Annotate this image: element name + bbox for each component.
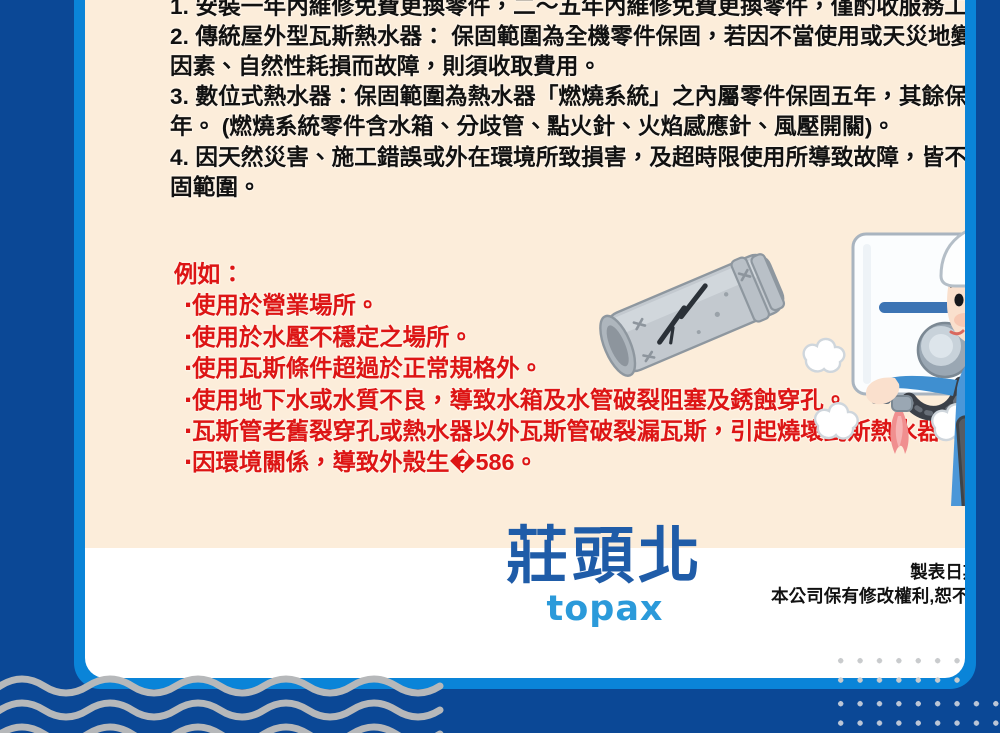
footer-notes: 製表日期 2024/1 本公司保有修改權利,恕不預先通知	[610, 560, 965, 608]
exclusion-item-2: ‧使用於水壓不穩定之場所。	[174, 322, 965, 353]
exclusion-item-6: ‧因環境關係，導致外殼生�586。	[174, 447, 965, 478]
warranty-terms-block: 熱水器保固條件為 1. 安裝一年內維修免費更換零件，二～五年內維修免費更換零件，…	[170, 0, 965, 203]
page-card: 熱水器保固條件為 1. 安裝一年內維修免費更換零件，二～五年內維修免費更換零件，…	[85, 0, 965, 678]
disclaimer-line: 本公司保有修改權利,恕不預先通知	[610, 584, 965, 608]
warranty-infographic-page: 熱水器保固條件為 1. 安裝一年內維修免費更換零件，二～五年內維修免費更換零件，…	[0, 0, 1000, 733]
exclusion-item-5: ‧瓦斯管老舊裂穿孔或熱水器以外瓦斯管破裂漏瓦斯，引起燒壞瓦斯熱水器。	[174, 416, 965, 447]
warranty-item-4: 4. 因天然災害、施工錯誤或外在環境所致損害，及超時限使用所導致故障，皆不屬於保…	[170, 143, 965, 203]
warranty-item-2: 2. 傳統屋外型瓦斯熱水器： 保固範圍為全機零件保固，若因不當使用或天災地變、人…	[170, 22, 965, 82]
publish-date-line: 製表日期 2024/1	[610, 560, 965, 584]
exclusions-block: 例如： ‧使用於營業場所。 ‧使用於水壓不穩定之場所。 ‧使用瓦斯條件超過於正常…	[174, 259, 965, 479]
examples-title: 例如：	[174, 259, 965, 290]
exclusion-item-4: ‧使用地下水或水質不良，導致水箱及水管破裂阻塞及銹蝕穿孔。	[174, 385, 965, 416]
warranty-item-1: 1. 安裝一年內維修免費更換零件，二～五年內維修免費更換零件，僅酌收服務工本費。	[170, 0, 965, 22]
exclusion-item-1: ‧使用於營業場所。	[174, 290, 965, 321]
exclusion-item-3: ‧使用瓦斯條件超過於正常規格外。	[174, 353, 965, 384]
warranty-item-3: 3. 數位式熱水器：保固範圍為熱水器「燃燒系統」之內屬零件保固五年，其餘保固一年…	[170, 82, 965, 142]
content-area: 熱水器保固條件為 1. 安裝一年內維修免費更換零件，二～五年內維修免費更換零件，…	[170, 0, 965, 548]
